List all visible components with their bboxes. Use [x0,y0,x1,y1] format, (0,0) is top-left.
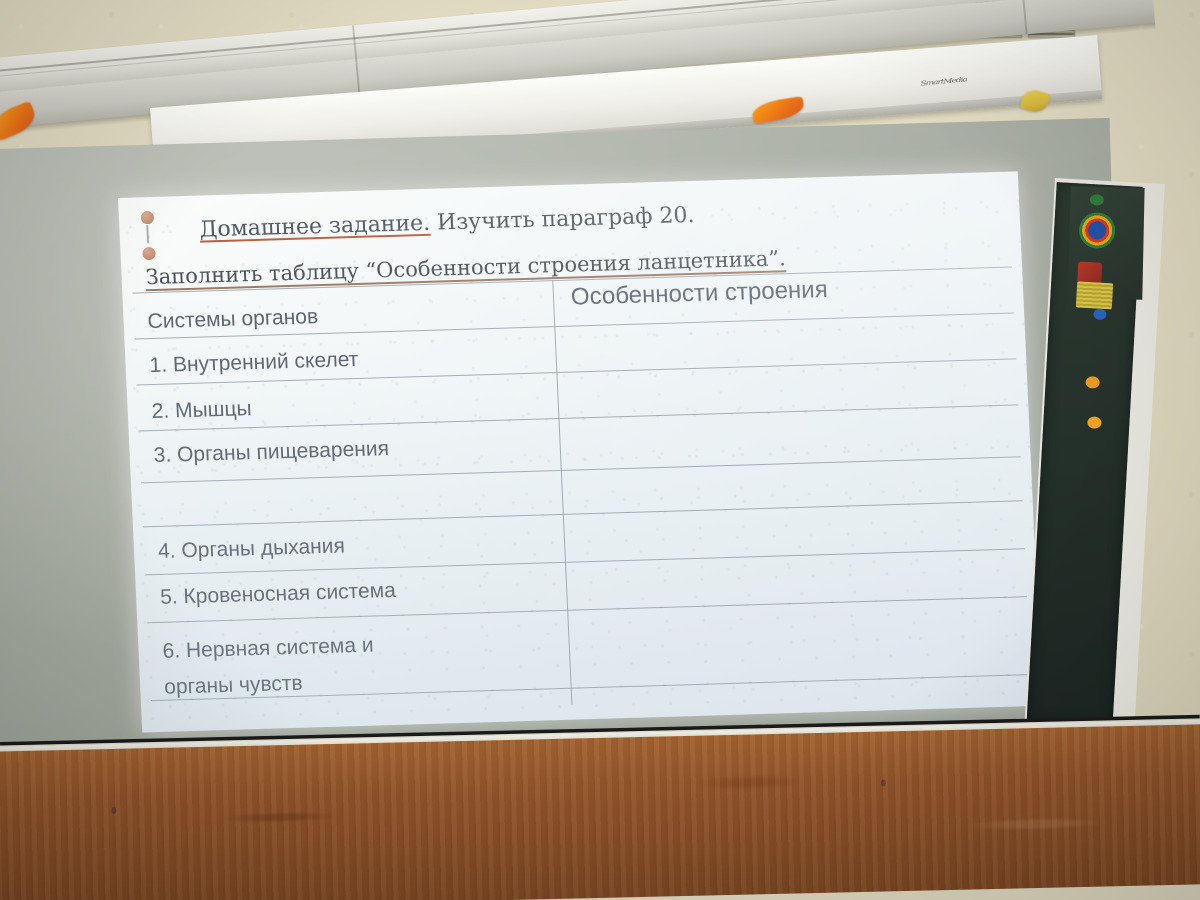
magnet-yellow-rect-icon [1076,281,1113,309]
slide-bullet-stem [146,225,149,243]
slide-bullet-2 [142,247,156,260]
slide-bullet-1 [141,211,155,224]
homework-label: Домашнее задание. [199,211,431,243]
table-row-4-label: 4. Органы дыхания [158,534,346,564]
homework-heading: Домашнее задание. Изучить параграф 20. [199,196,920,242]
table-column-divider [552,280,573,705]
table-rule-3 [139,404,1019,431]
table-row-6-label-cont: органы чувств [164,672,303,700]
table-header-systems: Системы органов [147,305,319,334]
wood-wall-panelling [0,724,1200,900]
table-row-3-label: 3. Органы пищеварения [153,437,389,468]
slide-surface: Домашнее задание. Изучить параграф 20. З… [118,171,1042,732]
screen-brand-label: SmartMedia [920,76,967,87]
table-header-features: Особенности строения [570,276,828,312]
organ-systems-table: Особенности строения Системы органов 1. … [132,266,1031,717]
magnet-orange-dot-icon [1085,376,1100,389]
table-row-5-label: 5. Кровеносная система [160,579,397,610]
homework-task: Изучить параграф 20. [437,203,695,236]
classroom-photo: SmartMedia Домашнее задание. Изучить пар… [0,0,1200,900]
projected-slide: Домашнее задание. Изучить параграф 20. З… [118,171,1042,732]
table-row-6-label: 6. Нервная система и [162,634,374,664]
table-row-2-label: 2. Мышцы [151,397,252,424]
magnet-orange-dot-icon-2 [1087,416,1102,429]
table-row-1-label: 1. Внутренний скелет [149,348,359,378]
table-rule-5 [143,500,1023,527]
wood-nail-dot-2 [881,779,886,786]
wood-nail-dot [111,807,116,814]
magnet-blue-dot-icon [1093,308,1107,320]
wood-grain-texture [0,724,1200,900]
